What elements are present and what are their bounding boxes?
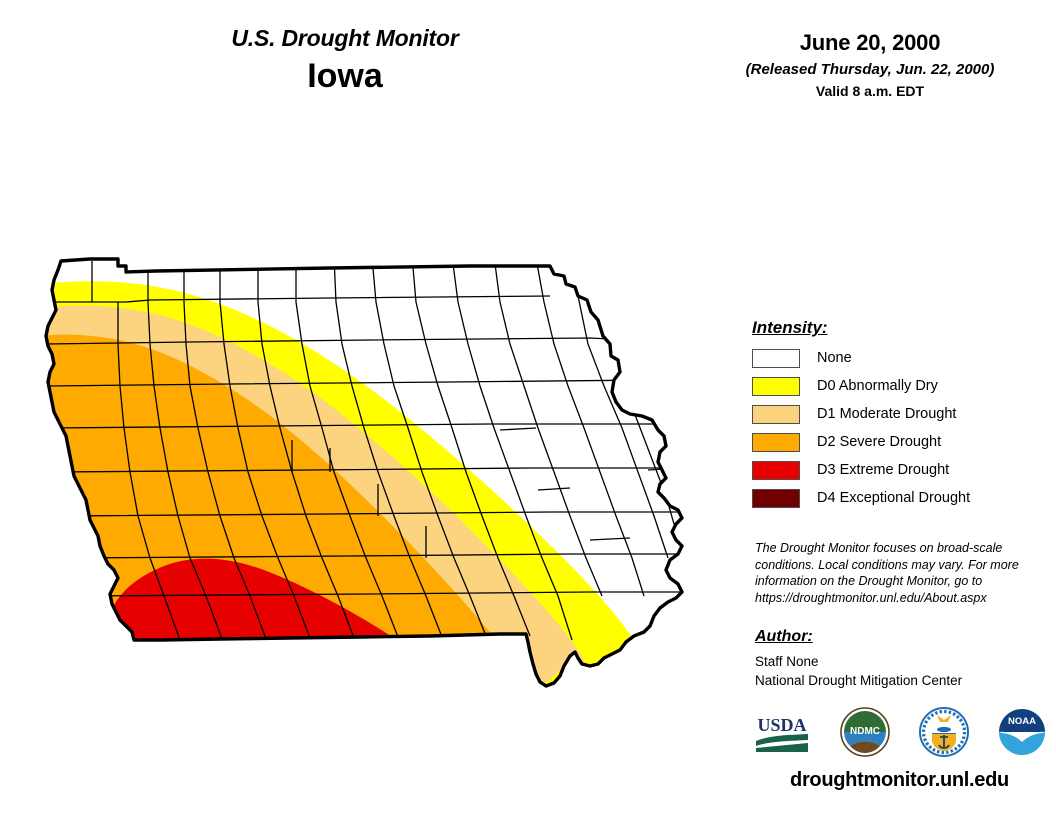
valid-time: Valid 8 a.m. EDT [700, 83, 1040, 99]
legend-label-d2: D2 Severe Drought [817, 434, 941, 450]
legend-label-d4: D4 Exceptional Drought [817, 490, 970, 506]
disclaimer-text: The Drought Monitor focuses on broad-sca… [755, 540, 1027, 606]
legend-label-d0: D0 Abnormally Dry [817, 378, 938, 394]
ndmc-logo[interactable]: NDMC [840, 707, 890, 757]
usda-logo-text: USDA [757, 715, 806, 735]
legend-item-d4[interactable]: D4 Exceptional Drought [752, 486, 1042, 510]
usdc-seal-logo[interactable] [919, 707, 969, 757]
author-organization: National Drought Mitigation Center [755, 671, 1045, 690]
page-title: U.S. Drought Monitor [0, 26, 690, 51]
usda-logo[interactable]: USDA [752, 710, 812, 754]
legend-label-none: None [817, 350, 852, 366]
legend-title: Intensity: [752, 318, 1042, 338]
legend-swatch-d1 [752, 405, 800, 424]
iowa-drought-map[interactable] [30, 240, 720, 700]
legend-item-none[interactable]: None [752, 346, 1042, 370]
logo-row: USDA NDMC NOAA [752, 704, 1047, 760]
legend-swatch-d2 [752, 433, 800, 452]
legend-item-d3[interactable]: D3 Extreme Drought [752, 458, 1042, 482]
author-title: Author: [755, 628, 1045, 646]
header-right: June 20, 2000 (Released Thursday, Jun. 2… [700, 30, 1040, 99]
legend-swatch-none [752, 349, 800, 368]
map-svg[interactable] [30, 240, 720, 700]
legend-swatch-d4 [752, 489, 800, 508]
state-title: Iowa [0, 55, 690, 98]
legend-swatch-d3 [752, 461, 800, 480]
noaa-logo-text: NOAA [1008, 716, 1036, 727]
noaa-logo[interactable]: NOAA [997, 707, 1047, 757]
legend-label-d3: D3 Extreme Drought [817, 462, 949, 478]
map-date: June 20, 2000 [700, 30, 1040, 56]
header-left: U.S. Drought Monitor Iowa [0, 26, 690, 98]
legend-item-d2[interactable]: D2 Severe Drought [752, 430, 1042, 454]
legend-swatch-d0 [752, 377, 800, 396]
ndmc-logo-text: NDMC [850, 726, 880, 737]
footer-url[interactable]: droughtmonitor.unl.edu [752, 769, 1047, 792]
legend-label-d1: D1 Moderate Drought [817, 406, 956, 422]
author-name: Staff None [755, 652, 1045, 671]
legend: Intensity: None D0 Abnormally Dry D1 Mod… [752, 318, 1042, 514]
legend-item-d0[interactable]: D0 Abnormally Dry [752, 374, 1042, 398]
release-date: (Released Thursday, Jun. 22, 2000) [700, 61, 1040, 78]
author-block: Author: Staff None National Drought Miti… [755, 628, 1045, 690]
legend-item-d1[interactable]: D1 Moderate Drought [752, 402, 1042, 426]
